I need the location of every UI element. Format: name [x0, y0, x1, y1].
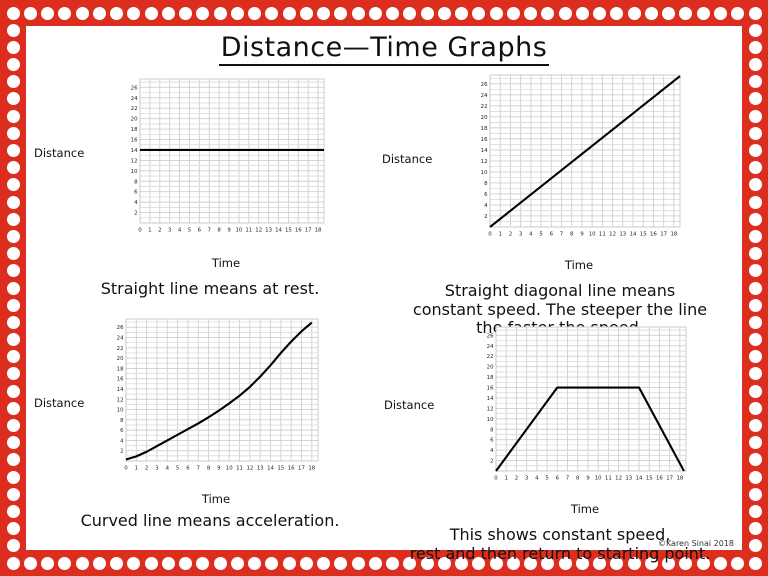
border-dot: [749, 385, 762, 398]
x-tick-label: 11: [605, 476, 612, 482]
x-tick-label: 17: [305, 228, 312, 234]
x-tick-label: 7: [208, 228, 211, 234]
panel-at-rest: Distance24681012141618202224260123456789…: [34, 66, 386, 301]
border-dot: [749, 402, 762, 415]
y-tick-label: 12: [481, 159, 488, 165]
x-tick-label: 10: [589, 232, 596, 238]
x-tick-label: 16: [288, 466, 295, 472]
y-tick-label: 14: [131, 148, 138, 154]
border-dot: [749, 333, 762, 346]
y-tick-label: 22: [481, 104, 488, 110]
border-dot: [749, 557, 762, 570]
y-tick-label: 14: [481, 148, 488, 154]
y-tick-label: 2: [490, 459, 493, 465]
border-dot: [179, 557, 192, 570]
x-tick-label: 11: [236, 466, 243, 472]
x-tick-label: 2: [158, 228, 161, 234]
x-tick-label: 9: [586, 476, 590, 482]
y-axis-label: Distance: [34, 396, 84, 410]
panel-constant-speed: Distance24681012141618202224260123456789…: [382, 60, 738, 318]
y-tick-label: 2: [484, 214, 487, 220]
x-tick-label: 14: [267, 466, 274, 472]
border-dot: [7, 144, 20, 157]
chart-plot-area: 2468101214161820222426012345678910111213…: [482, 324, 688, 484]
border-dot: [749, 161, 762, 174]
border-dot: [214, 7, 227, 20]
panel-caption: Curved line means acceleration.: [34, 512, 386, 531]
y-tick-label: 16: [117, 377, 124, 383]
border-dot: [7, 247, 20, 260]
x-tick-label: 1: [148, 228, 151, 234]
y-tick-label: 16: [131, 138, 138, 144]
border-dot: [162, 557, 175, 570]
y-tick-label: 6: [484, 192, 488, 198]
border-dot: [179, 7, 192, 20]
border-dot: [7, 41, 20, 54]
chart-plot-area: 2468101214161820222426012345678910111213…: [126, 76, 326, 236]
x-tick-label: 9: [227, 228, 231, 234]
x-tick-label: 12: [246, 466, 253, 472]
border-dot: [749, 436, 762, 449]
border-dot: [145, 7, 158, 20]
border-dot: [524, 7, 537, 20]
border-dot: [403, 7, 416, 20]
y-tick-label: 8: [134, 179, 138, 185]
border-dot: [541, 7, 554, 20]
x-tick-label: 0: [488, 232, 492, 238]
border-dot: [749, 196, 762, 209]
panel-caption: Straight line means at rest.: [34, 280, 386, 299]
border-dot: [7, 402, 20, 415]
poster-content: Distance—Time Graphs Distance24681012141…: [26, 26, 742, 550]
border-dot: [127, 557, 140, 570]
x-tick-label: 16: [650, 232, 657, 238]
x-tick-label: 0: [124, 466, 128, 472]
border-dot: [7, 471, 20, 484]
x-tick-label: 5: [539, 232, 542, 238]
border-dot: [714, 7, 727, 20]
border-dot: [283, 7, 296, 20]
x-tick-label: 7: [560, 232, 563, 238]
chart-plot-area: 2468101214161820222426012345678910111213…: [476, 72, 682, 240]
y-tick-label: 2: [134, 211, 137, 217]
y-tick-label: 4: [120, 438, 124, 444]
border-dot: [749, 282, 762, 295]
x-tick-label: 6: [186, 466, 190, 472]
y-tick-label: 26: [131, 85, 138, 91]
y-tick-label: 20: [481, 115, 488, 121]
border-dot: [7, 367, 20, 380]
border-dot: [749, 127, 762, 140]
border-dot: [7, 127, 20, 140]
x-tick-label: 8: [217, 228, 221, 234]
poster: Distance—Time Graphs Distance24681012141…: [0, 0, 768, 576]
chart-plot-area: 2468101214161820222426012345678910111213…: [112, 316, 320, 474]
border-dot: [7, 350, 20, 363]
border-dot: [7, 92, 20, 105]
border-dot: [7, 58, 20, 71]
x-tick-label: 5: [188, 228, 191, 234]
border-dot: [7, 505, 20, 518]
border-dot: [749, 58, 762, 71]
x-tick-label: 18: [676, 476, 683, 482]
border-dot: [749, 453, 762, 466]
border-dot: [662, 7, 675, 20]
border-dot: [24, 557, 37, 570]
x-tick-label: 3: [155, 466, 158, 472]
border-dot: [679, 7, 692, 20]
border-dot: [76, 557, 89, 570]
border-dot: [7, 75, 20, 88]
border-dot: [749, 92, 762, 105]
x-tick-label: 2: [509, 232, 512, 238]
border-dot: [76, 7, 89, 20]
border-dot: [628, 7, 641, 20]
border-dot: [7, 522, 20, 535]
border-dot: [438, 7, 451, 20]
border-dot: [749, 522, 762, 535]
border-dot: [196, 7, 209, 20]
border-dot: [248, 557, 261, 570]
x-tick-label: 4: [178, 228, 182, 234]
x-axis-label: Time: [112, 492, 320, 506]
border-dot: [265, 7, 278, 20]
x-axis-label: Time: [126, 256, 326, 270]
x-tick-label: 15: [277, 466, 284, 472]
border-dot: [455, 7, 468, 20]
border-dot: [749, 41, 762, 54]
x-tick-label: 3: [168, 228, 171, 234]
border-dot: [41, 557, 54, 570]
y-tick-label: 18: [117, 366, 124, 372]
border-dot: [749, 488, 762, 501]
x-tick-label: 7: [566, 476, 569, 482]
border-dot: [749, 539, 762, 552]
border-dot: [749, 299, 762, 312]
border-dot: [749, 110, 762, 123]
border-dot: [7, 282, 20, 295]
caption-line: Straight diagonal line means: [382, 282, 738, 301]
border-dot: [7, 385, 20, 398]
border-dot: [7, 196, 20, 209]
y-tick-label: 18: [487, 375, 494, 381]
x-tick-label: 0: [494, 476, 498, 482]
x-tick-label: 16: [295, 228, 302, 234]
border-dot: [41, 7, 54, 20]
y-tick-label: 2: [120, 449, 123, 455]
y-tick-label: 12: [487, 406, 494, 412]
border-dot: [386, 7, 399, 20]
x-tick-label: 14: [630, 232, 637, 238]
y-axis-label: Distance: [384, 398, 434, 412]
x-tick-label: 6: [198, 228, 202, 234]
border-dot: [58, 7, 71, 20]
border-dot: [58, 557, 71, 570]
x-tick-label: 11: [245, 228, 252, 234]
y-tick-label: 8: [484, 181, 488, 187]
y-tick-label: 14: [117, 387, 124, 393]
x-tick-label: 18: [315, 228, 322, 234]
border-dot: [7, 161, 20, 174]
border-dot: [248, 7, 261, 20]
y-tick-label: 26: [487, 333, 494, 339]
border-dot: [576, 7, 589, 20]
border-dot: [610, 7, 623, 20]
border-dot: [490, 7, 503, 20]
x-tick-label: 7: [197, 466, 200, 472]
x-tick-label: 9: [580, 232, 584, 238]
x-tick-label: 3: [525, 476, 528, 482]
x-tick-label: 14: [636, 476, 643, 482]
border-dot: [317, 557, 330, 570]
border-dot: [352, 557, 365, 570]
y-tick-label: 12: [131, 158, 138, 164]
x-tick-label: 12: [255, 228, 262, 234]
border-dot: [7, 539, 20, 552]
caption-line: Curved line means acceleration.: [34, 512, 386, 531]
y-tick-label: 22: [487, 354, 494, 360]
x-tick-label: 18: [670, 232, 677, 238]
border-dot: [559, 7, 572, 20]
border-dot: [300, 7, 313, 20]
y-tick-label: 10: [487, 417, 494, 423]
x-tick-label: 11: [599, 232, 606, 238]
border-dot: [283, 557, 296, 570]
x-tick-label: 2: [515, 476, 518, 482]
y-tick-label: 16: [481, 137, 488, 143]
y-tick-label: 26: [481, 82, 488, 88]
x-tick-label: 1: [135, 466, 138, 472]
border-dot: [749, 144, 762, 157]
border-dot: [645, 7, 658, 20]
border-dot: [196, 557, 209, 570]
y-tick-label: 24: [131, 96, 138, 102]
border-dot: [214, 557, 227, 570]
y-tick-label: 18: [131, 127, 138, 133]
y-tick-label: 16: [487, 386, 494, 392]
border-dot: [749, 230, 762, 243]
x-tick-label: 10: [595, 476, 602, 482]
y-tick-label: 18: [481, 126, 488, 132]
panel-out-and-back: Distance24681012141618202224260123456789…: [382, 314, 738, 554]
border-dot: [127, 7, 140, 20]
border-dot: [749, 24, 762, 37]
x-tick-label: 2: [145, 466, 148, 472]
x-tick-label: 5: [545, 476, 548, 482]
copyright-notice: ©Karen Sinai 2018: [658, 539, 734, 548]
border-dot: [7, 419, 20, 432]
border-dot: [352, 7, 365, 20]
x-tick-label: 14: [275, 228, 282, 234]
y-tick-label: 6: [120, 428, 124, 434]
border-dot: [7, 453, 20, 466]
border-dot: [334, 557, 347, 570]
x-tick-label: 10: [226, 466, 233, 472]
y-tick-label: 24: [481, 93, 488, 99]
x-tick-label: 8: [570, 232, 574, 238]
x-tick-label: 12: [609, 232, 616, 238]
y-tick-label: 6: [490, 438, 494, 444]
x-tick-label: 4: [529, 232, 533, 238]
y-axis-label: Distance: [34, 146, 84, 160]
y-tick-label: 4: [484, 203, 488, 209]
border-dot: [7, 333, 20, 346]
y-tick-label: 10: [131, 169, 138, 175]
y-tick-label: 26: [117, 325, 124, 331]
border-dot: [593, 7, 606, 20]
y-tick-label: 22: [117, 346, 124, 352]
y-tick-label: 24: [487, 344, 494, 350]
x-tick-label: 6: [556, 476, 560, 482]
border-dot: [749, 7, 762, 20]
border-dot: [231, 7, 244, 20]
border-dot: [7, 299, 20, 312]
x-tick-label: 16: [656, 476, 663, 482]
x-tick-label: 3: [519, 232, 522, 238]
border-dot: [24, 7, 37, 20]
x-tick-label: 0: [138, 228, 142, 234]
border-dot: [749, 316, 762, 329]
y-tick-label: 20: [117, 356, 124, 362]
x-tick-label: 5: [176, 466, 179, 472]
x-tick-label: 1: [498, 232, 501, 238]
border-dot: [7, 24, 20, 37]
border-dot: [749, 178, 762, 191]
y-tick-label: 10: [481, 170, 488, 176]
border-dot: [145, 557, 158, 570]
x-tick-label: 13: [265, 228, 272, 234]
border-dot: [7, 7, 20, 20]
x-tick-label: 13: [257, 466, 264, 472]
border-dot: [697, 7, 710, 20]
y-tick-label: 22: [131, 106, 138, 112]
x-tick-label: 12: [615, 476, 622, 482]
x-tick-label: 17: [666, 476, 673, 482]
border-dot: [731, 7, 744, 20]
x-axis-label: Time: [482, 502, 688, 516]
x-tick-label: 8: [207, 466, 211, 472]
x-tick-label: 17: [660, 232, 667, 238]
border-dot: [110, 7, 123, 20]
x-tick-label: 4: [535, 476, 539, 482]
y-tick-label: 12: [117, 397, 124, 403]
y-tick-label: 24: [117, 336, 124, 342]
border-dot: [749, 505, 762, 518]
x-tick-label: 4: [166, 466, 170, 472]
border-dot: [7, 230, 20, 243]
border-dot: [265, 557, 278, 570]
x-tick-label: 6: [550, 232, 554, 238]
y-tick-label: 4: [490, 448, 494, 454]
x-axis-label: Time: [476, 258, 682, 272]
border-dot: [7, 178, 20, 191]
y-tick-label: 20: [131, 117, 138, 123]
border-dot: [472, 7, 485, 20]
border-dot: [7, 488, 20, 501]
x-tick-label: 10: [235, 228, 242, 234]
border-dot: [110, 557, 123, 570]
border-dot: [369, 7, 382, 20]
border-dot: [421, 7, 434, 20]
x-tick-label: 13: [625, 476, 632, 482]
border-dot: [7, 316, 20, 329]
y-tick-label: 10: [117, 408, 124, 414]
x-tick-label: 15: [640, 232, 647, 238]
border-dot: [7, 110, 20, 123]
border-dot: [369, 557, 382, 570]
border-dot: [162, 7, 175, 20]
y-tick-label: 6: [134, 190, 138, 196]
border-dot: [300, 557, 313, 570]
border-dot: [334, 7, 347, 20]
x-tick-label: 8: [576, 476, 580, 482]
border-dot: [93, 557, 106, 570]
border-dot: [749, 213, 762, 226]
border-dot: [749, 75, 762, 88]
x-tick-label: 15: [285, 228, 292, 234]
caption-line: Straight line means at rest.: [34, 280, 386, 299]
border-dot: [507, 7, 520, 20]
y-tick-label: 4: [134, 200, 138, 206]
x-tick-label: 17: [298, 466, 305, 472]
border-dot: [231, 557, 244, 570]
x-tick-label: 13: [619, 232, 626, 238]
y-axis-label: Distance: [382, 152, 432, 166]
x-tick-label: 15: [646, 476, 653, 482]
y-tick-label: 14: [487, 396, 494, 402]
border-dot: [749, 367, 762, 380]
border-dot: [749, 471, 762, 484]
y-tick-label: 8: [120, 418, 124, 424]
border-dot: [749, 350, 762, 363]
border-dot: [317, 7, 330, 20]
x-tick-label: 9: [217, 466, 221, 472]
border-dot: [749, 247, 762, 260]
x-tick-label: 1: [504, 476, 507, 482]
border-dot: [749, 264, 762, 277]
border-dot: [93, 7, 106, 20]
x-tick-label: 18: [308, 466, 315, 472]
border-dot: [7, 436, 20, 449]
panel-acceleration: Distance24681012141618202224260123456789…: [34, 304, 386, 546]
y-tick-label: 8: [490, 427, 494, 433]
border-dot: [749, 419, 762, 432]
border-dot: [7, 557, 20, 570]
border-dot: [7, 213, 20, 226]
border-dot: [7, 264, 20, 277]
y-tick-label: 20: [487, 365, 494, 371]
